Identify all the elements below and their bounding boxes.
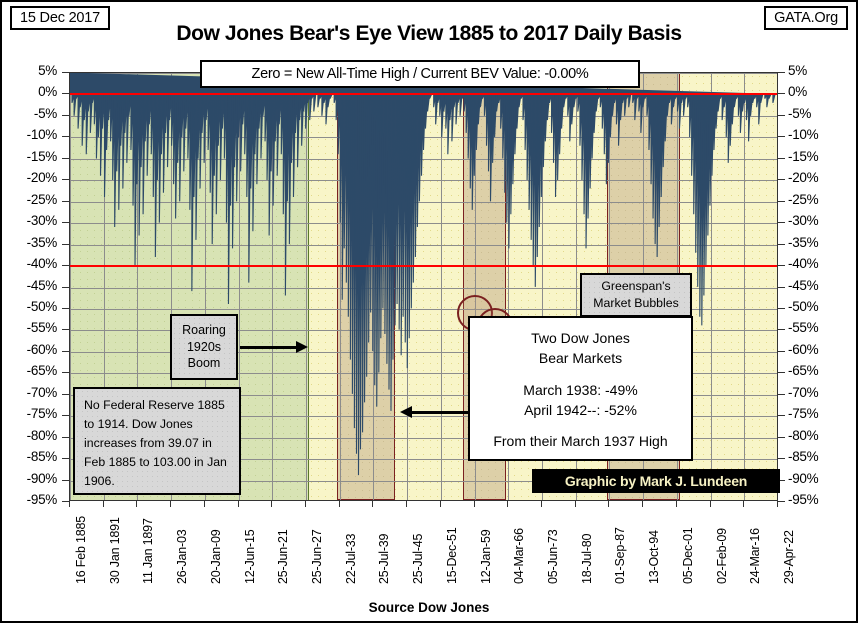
y-tick-right [778,458,785,459]
x-tick [372,501,373,507]
roaring-line-2: 1920s [187,339,221,356]
graphic-credit-text: Graphic by Mark J. Lundeen [565,473,747,489]
graphic-credit: Graphic by Mark J. Lundeen [532,469,780,493]
zero-note-callout: Zero = New All-Time High / Current BEV V… [200,60,640,88]
x-tick [710,501,711,507]
chart-frame: 15 Dec 2017 GATA.Org Dow Jones Bear's Ey… [0,0,858,623]
y-tick-left [62,201,69,202]
y-axis-label-right: -60% [788,342,818,357]
x-tick [305,501,306,507]
bear-line-1: Two Dow Jones [476,328,685,348]
y-axis-label-left: -75% [2,406,57,421]
x-axis-label: 30 Jan 1891 [108,517,122,584]
y-axis-label-left: -80% [2,428,57,443]
y-tick-right [778,158,785,159]
y-axis-label-right: -70% [788,385,818,400]
x-axis-label: 04-Mar-66 [512,528,526,584]
roaring-line-3: Boom [188,355,221,372]
y-axis-label-right: -95% [788,492,818,507]
bear-line-3: March 1938: -49% [476,380,685,400]
y-tick-left [62,480,69,481]
x-axis-label: 25-Jun-21 [276,530,290,585]
y-axis-label-right: -50% [788,299,818,314]
x-tick [777,501,778,507]
x-tick [608,501,609,507]
y-tick-right [778,72,785,73]
y-axis-label-left: -85% [2,449,57,464]
roaring-line-1: Roaring [182,322,226,339]
y-axis-label-left: -55% [2,320,57,335]
y-axis-label-left: 0% [2,84,57,99]
x-axis-label: 25-Jul-39 [377,534,391,584]
no-federal-reserve-callout: No Federal Reserve 1885 to 1914. Dow Jon… [73,387,241,495]
y-axis-label-right: -35% [788,235,818,250]
x-tick [170,501,171,507]
y-axis-label-left: -25% [2,192,57,207]
x-tick [541,501,542,507]
x-axis-title: Source Dow Jones [2,600,856,615]
y-tick-left [62,329,69,330]
y-axis-label-right: -30% [788,213,818,228]
y-tick-left [62,179,69,180]
x-axis-label: 25-Jul-45 [411,534,425,584]
bear-line-5: From their March 1937 High [476,431,685,451]
y-tick-right [778,222,785,223]
x-axis-label: 18-Jul-80 [580,534,594,584]
zero-note-text: Zero = New All-Time High / Current BEV V… [252,66,589,82]
y-tick-left [62,115,69,116]
x-axis-label: 20-Jan-09 [209,530,223,585]
y-axis-label-right: -90% [788,471,818,486]
y-tick-left [62,415,69,416]
y-axis-label-right: -15% [788,149,818,164]
y-axis-label-right: -55% [788,320,818,335]
y-tick-right [778,136,785,137]
x-axis-label: 01-Sep-87 [613,527,627,584]
x-axis-label: 26-Jan-03 [175,530,189,585]
x-tick [507,501,508,507]
x-axis-label: 22-Jul-33 [344,534,358,584]
x-axis-label: 05-Dec-01 [681,527,695,584]
x-tick [69,501,70,507]
no-federal-reserve-text: No Federal Reserve 1885 to 1914. Dow Jon… [84,398,227,488]
x-axis-label: 15-Dec-51 [445,527,459,584]
y-axis-label-right: 5% [788,63,807,78]
x-tick [474,501,475,507]
x-axis-label: 16 Feb 1885 [74,516,88,584]
y-axis-label-left: -65% [2,363,57,378]
x-tick [204,501,205,507]
y-axis-label-right: -75% [788,406,818,421]
y-axis-label-right: -25% [788,192,818,207]
y-tick-left [62,265,69,266]
y-tick-left [62,372,69,373]
x-axis-label: 12-Jun-15 [243,530,257,585]
y-tick-right [778,308,785,309]
y-axis-label-left: -45% [2,278,57,293]
y-axis-label-right: -65% [788,363,818,378]
y-tick-left [62,222,69,223]
bear-line-4: April 1942--: -52% [476,400,685,420]
y-tick-left [62,158,69,159]
two-bear-markets-callout: Two Dow Jones Bear Markets March 1938: -… [468,316,693,461]
y-axis-label-left: -20% [2,170,57,185]
y-tick-left [62,501,69,502]
y-axis-label-left: -5% [2,106,57,121]
y-tick-left [62,308,69,309]
x-tick [339,501,340,507]
y-tick-left [62,351,69,352]
y-axis-label-left: -50% [2,299,57,314]
y-tick-right [778,329,785,330]
x-tick [743,501,744,507]
x-axis-label: 29-Apr-22 [782,530,796,584]
x-axis-label: 13-Oct-94 [647,530,661,584]
y-axis-label-right: -45% [788,278,818,293]
y-tick-right [778,501,785,502]
y-tick-left [62,437,69,438]
y-tick-right [778,179,785,180]
greenspan-line-2: Market Bubbles [593,295,678,312]
x-axis-label: 25-Jun-27 [310,530,324,585]
y-axis-label-right: -85% [788,449,818,464]
x-axis-label: 11 Jan 1897 [141,518,155,584]
y-tick-right [778,244,785,245]
bear-line-2: Bear Markets [476,348,685,368]
x-axis-label: 24-Mar-16 [748,528,762,584]
x-axis-label: 12-Jan-59 [479,530,493,585]
reference-line-0 [70,93,777,95]
y-tick-right [778,265,785,266]
x-axis-label: 02-Feb-09 [715,528,729,584]
x-tick [136,501,137,507]
x-tick [575,501,576,507]
y-tick-left [62,394,69,395]
y-axis-label-right: -5% [788,106,811,121]
y-tick-left [62,93,69,94]
reference-line--40 [70,265,777,267]
y-axis-label-right: -40% [788,256,818,271]
y-tick-left [62,458,69,459]
y-tick-right [778,287,785,288]
y-tick-right [778,394,785,395]
y-tick-left [62,287,69,288]
y-tick-right [778,201,785,202]
y-axis-label-left: -15% [2,149,57,164]
y-axis-label-right: -80% [788,428,818,443]
y-axis-label-left: -35% [2,235,57,250]
y-axis-label-right: -20% [788,170,818,185]
y-tick-right [778,351,785,352]
x-tick [440,501,441,507]
x-axis-label: 05-Jun-73 [546,530,560,585]
x-tick [103,501,104,507]
page-title: Dow Jones Bear's Eye View 1885 to 2017 D… [2,22,856,46]
y-tick-left [62,72,69,73]
y-axis-label-right: 0% [788,84,807,99]
y-axis-label-left: -40% [2,256,57,271]
y-axis-label-left: -30% [2,213,57,228]
x-tick [406,501,407,507]
y-tick-right [778,93,785,94]
y-axis-label-left: -60% [2,342,57,357]
y-tick-right [778,372,785,373]
x-tick [271,501,272,507]
y-axis-label-left: -70% [2,385,57,400]
y-tick-left [62,244,69,245]
roaring-twenties-callout: Roaring 1920s Boom [170,314,238,380]
y-axis-label-right: -10% [788,127,818,142]
y-tick-right [778,415,785,416]
greenspan-line-1: Greenspan's [601,278,670,295]
y-tick-left [62,136,69,137]
x-tick [238,501,239,507]
y-tick-right [778,437,785,438]
y-tick-right [778,115,785,116]
x-tick [676,501,677,507]
x-tick [642,501,643,507]
y-axis-label-left: -10% [2,127,57,142]
y-axis-label-left: -90% [2,471,57,486]
y-axis-label-left: -95% [2,492,57,507]
y-axis-label-left: 5% [2,63,57,78]
greenspan-bubbles-callout: Greenspan's Market Bubbles [580,273,692,317]
